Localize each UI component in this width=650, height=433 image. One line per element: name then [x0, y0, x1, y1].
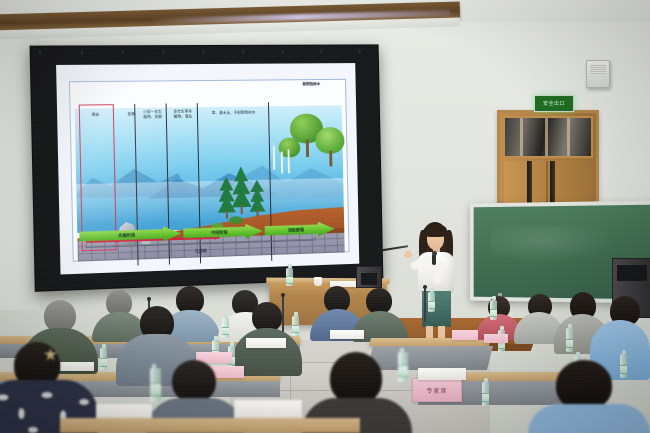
wall-speaker — [586, 60, 610, 88]
presenter — [408, 222, 464, 346]
desk-name-card — [484, 334, 508, 343]
slide-label-shrubs-intolerant-trees: 草、灌木丛、不耐阴性树木 — [200, 110, 267, 115]
expert-seat-name-card: 专家席 — [412, 378, 462, 402]
desk-name-card — [452, 330, 478, 340]
microphone — [432, 254, 436, 265]
desk-papers — [60, 362, 94, 371]
desk-papers — [330, 330, 364, 339]
exit-sign: 安全出口 — [534, 95, 574, 112]
water-bottle — [150, 368, 161, 402]
water-bottle — [490, 300, 497, 320]
water-bottle — [566, 328, 573, 352]
door-transom-window — [503, 116, 593, 158]
water-bottle — [620, 354, 627, 378]
desk — [60, 418, 360, 433]
desk-microphone — [282, 296, 284, 334]
expert-seat-label: 专家席 — [426, 386, 447, 395]
desk-papers — [234, 400, 302, 420]
tree-trunk — [329, 151, 332, 167]
slide-label-perennial-herbs-2: 植物、灌丛 — [169, 114, 197, 119]
desk-front — [367, 346, 493, 370]
desk-papers — [246, 338, 286, 348]
lecture-hall-photo: 安全出口 — [0, 0, 650, 433]
podium-monitor — [356, 266, 382, 288]
tree-trunk — [306, 139, 309, 157]
desk-papers — [418, 368, 466, 380]
slide-label-shade-tolerant-trees: 耐阴性树木 — [285, 82, 337, 87]
attendee-shoulders — [528, 404, 650, 433]
water-bottle — [286, 268, 293, 286]
water-bottle — [222, 318, 229, 338]
presenter-skirt — [422, 291, 451, 327]
water-bottle — [482, 382, 489, 406]
water-bottle — [292, 316, 299, 336]
stage-arrow-climax-label: 顶极群落 — [288, 227, 304, 233]
projection-screen: 耐阴性树木 裸岩 苔藓 小型一年生 植物、苔藓 多年生草本 植物、灌丛 — [56, 63, 359, 274]
attendee-head — [556, 360, 612, 410]
attendee-head — [330, 352, 382, 404]
projection-screen-frame: 耐阴性树木 裸岩 苔藓 小型一年生 植物、苔藓 多年生草本 植物、灌丛 — [30, 44, 384, 291]
birch-trunk — [281, 152, 283, 174]
presenter-fringe — [424, 224, 447, 237]
paper-cup — [314, 277, 322, 286]
slide-ecological-succession: 耐阴性树木 裸岩 苔藓 小型一年生 植物、苔藓 多年生草本 植物、灌丛 — [56, 63, 359, 274]
stage-arrow-intermediate-label: 中间阶段 — [211, 229, 228, 236]
highlight-box-bare-rock — [79, 104, 117, 251]
exit-sign-label: 安全出口 — [543, 100, 565, 107]
desk-microphone — [424, 288, 426, 322]
water-bottle — [100, 348, 107, 370]
slide-label-bare-rock: 裸岩 — [79, 112, 112, 117]
water-bottle — [398, 352, 408, 382]
attendee-head — [172, 360, 216, 402]
slide-border: 耐阴性树木 裸岩 苔藓 小型一年生 植物、苔藓 多年生草本 植物、灌丛 — [69, 79, 350, 262]
water-bottle — [428, 292, 435, 312]
slide-label-annual-plants-2: 植物、苔藓 — [138, 115, 166, 120]
stage-arrow-pioneer-label: 先锋阶段 — [118, 232, 135, 239]
